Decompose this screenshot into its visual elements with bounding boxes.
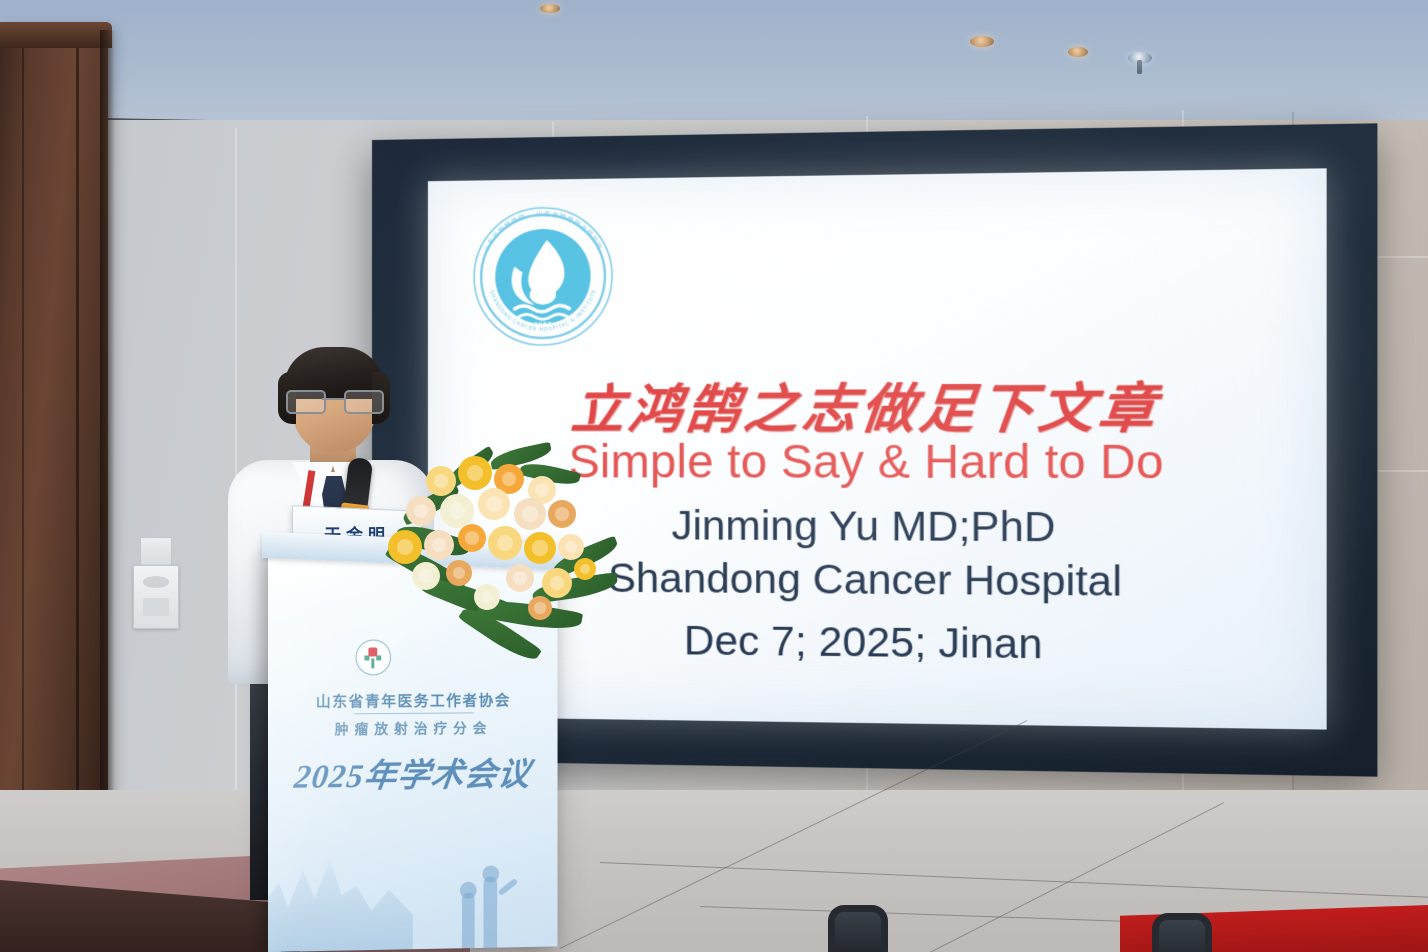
rose	[388, 530, 422, 564]
rose	[548, 500, 576, 528]
wall-panel-upper	[140, 537, 172, 567]
rose	[574, 558, 596, 580]
rose	[528, 596, 552, 620]
rose	[458, 524, 486, 552]
rose	[426, 466, 456, 496]
rose	[488, 526, 522, 560]
podium-people-silhouettes	[417, 854, 525, 949]
rose	[542, 568, 572, 598]
podium-cityscape-graphic	[268, 834, 413, 952]
chair-back	[1152, 913, 1212, 952]
rose	[406, 496, 436, 526]
rose	[474, 584, 500, 610]
eyeglasses-icon	[284, 390, 384, 410]
logo-year: 1958	[534, 321, 552, 329]
rose	[458, 456, 492, 490]
ceiling-spot-4-icon	[540, 4, 560, 13]
conference-hall-photo: 山东省肿瘤医院 · 山东省肿瘤防治研究院 SHANDONG CANCER HOS…	[0, 0, 1428, 952]
podium-org-line-2: 肿瘤放射治疗分会	[268, 718, 558, 740]
flower-bouquet	[382, 438, 614, 668]
ceiling-spot-stem	[1137, 60, 1142, 74]
wood-column	[0, 30, 108, 860]
rose	[412, 562, 440, 590]
rose	[440, 494, 474, 528]
slide-title-chinese: 立鸿鹄之志做足下文章	[428, 364, 1320, 443]
rose	[478, 488, 510, 520]
podium-event-title: 2025年学术会议	[268, 747, 558, 798]
wood-column-edge	[100, 30, 114, 860]
podium-divider	[354, 712, 474, 714]
rose	[514, 498, 546, 530]
shandong-cancer-hospital-logo-icon: 山东省肿瘤医院 · 山东省肿瘤防治研究院 SHANDONG CANCER HOS…	[468, 201, 618, 352]
rose	[424, 530, 454, 560]
ceiling-spot-1-icon	[970, 36, 994, 47]
rose	[524, 532, 556, 564]
podium-org-line-1: 山东省青年医务工作者协会	[268, 689, 558, 712]
rose	[506, 564, 534, 592]
wood-column-cap	[0, 22, 112, 48]
rose	[558, 534, 584, 560]
ceiling	[0, 0, 1428, 132]
chair-back	[828, 905, 888, 952]
ceiling-spot-2-icon	[1068, 47, 1088, 57]
wall-control-plate[interactable]	[133, 565, 179, 629]
rose	[446, 560, 472, 586]
